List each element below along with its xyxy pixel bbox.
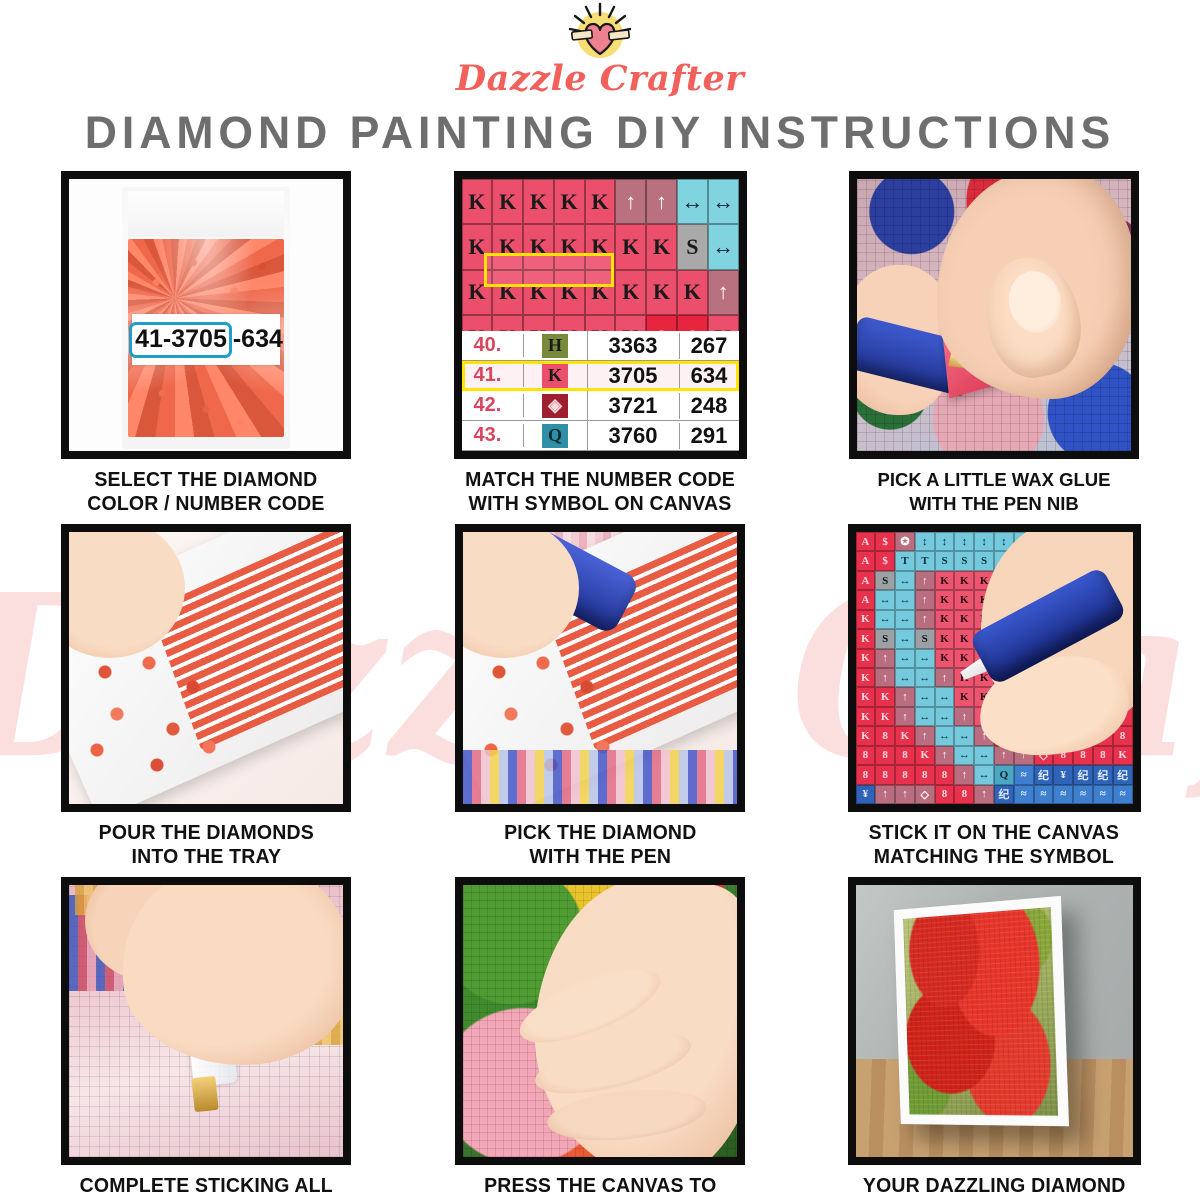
canvas-cell: ↔ — [915, 707, 935, 726]
canvas-cell: ↔ — [935, 726, 955, 745]
canvas-cell: ↑ — [935, 746, 955, 765]
press-canvas-photo — [463, 885, 737, 1157]
picture-frame — [893, 896, 1068, 1126]
chart-cell: K — [523, 179, 554, 224]
canvas-cell: ≈ — [1014, 765, 1034, 784]
canvas-cell: S — [974, 551, 994, 570]
color-legend-table: 40.H336326741.K370563442.◈372124843.Q376… — [462, 331, 739, 451]
canvas-cell: 8 — [875, 765, 895, 784]
step-1-image: 41-3705-634 — [61, 171, 351, 459]
canvas-cell: ↑ — [954, 765, 974, 784]
legend-row-number: 40. — [462, 334, 524, 357]
canvas-cell: Q — [994, 765, 1014, 784]
canvas-cell: S — [875, 629, 895, 648]
canvas-cell: ↕ — [974, 532, 994, 551]
canvas-cell: 8 — [856, 746, 876, 765]
canvas-cell: S — [875, 571, 895, 590]
canvas-cell: A — [856, 590, 876, 609]
step-6-caption: STICK IT ON THE CANVAS MATCHING THE SYMB… — [869, 821, 1120, 877]
canvas-cell: $ — [875, 551, 895, 570]
step-8-image — [455, 877, 745, 1165]
canvas-cell: ≈ — [1073, 785, 1093, 804]
canvas-cell: ¥ — [856, 785, 876, 804]
canvas-cell: ¥ — [1053, 765, 1073, 784]
canvas-cell: ↔ — [875, 610, 895, 629]
right-hand — [123, 885, 343, 1065]
canvas-cell: K — [875, 687, 895, 706]
canvas-cell: ↕ — [935, 532, 955, 551]
canvas-cell: ◇ — [915, 785, 935, 804]
canvas-cell: 纪 — [1073, 765, 1093, 784]
header: Dazzle Crafter DIAMOND PAINTING DIY INST… — [0, 0, 1200, 159]
legend-dmc-code: 3760 — [588, 423, 680, 449]
step-6-caption-line2: MATCHING THE SYMBOL — [869, 845, 1120, 869]
step-8-caption: PRESS THE CANVAS TO FIX ALL DIAMONDS — [484, 1174, 716, 1200]
step-4: POUR THE DIAMONDS INTO THE TRAY — [13, 524, 399, 877]
canvas-cell: ≈ — [1014, 785, 1034, 804]
diamond-bag-photo: 41-3705-634 — [69, 179, 343, 451]
canvas-cell: ↔ — [895, 590, 915, 609]
canvas-cell: K — [856, 629, 876, 648]
finished-art-photo — [856, 885, 1133, 1157]
complete-sticking-photo — [69, 885, 343, 1157]
canvas-cell: ↕ — [915, 532, 935, 551]
canvas-cell: ↕ — [954, 532, 974, 551]
step-1-caption: SELECT THE DIAMOND COLOR / NUMBER CODE — [87, 468, 324, 524]
canvas-cell: 纪 — [1093, 765, 1113, 784]
legend-symbol-cell: Q — [524, 421, 588, 450]
canvas-cell: ↔ — [915, 649, 935, 668]
canvas-cell: K — [1113, 746, 1133, 765]
canvas-cell: ↔ — [915, 668, 935, 687]
chart-cell: K — [615, 224, 646, 269]
canvas-cell: ↔ — [935, 687, 955, 706]
canvas-cell: ↑ — [895, 707, 915, 726]
legend-dmc-code: 3363 — [588, 333, 680, 359]
canvas-cell: S — [954, 551, 974, 570]
wax-glue-photo — [857, 179, 1131, 451]
canvas-cell: 8 — [856, 765, 876, 784]
canvas-cell: ↑ — [935, 668, 955, 687]
canvas-cell: ↑ — [875, 785, 895, 804]
canvas-cell: ↑ — [895, 785, 915, 804]
canvas-cell: ≈ — [1113, 785, 1133, 804]
canvas-cell: ↑ — [875, 668, 895, 687]
legend-row-number: 43. — [462, 424, 524, 447]
canvas-cell: K — [856, 668, 876, 687]
canvas-cell: A — [856, 532, 876, 551]
canvas-cell: ↔ — [954, 726, 974, 745]
step-8-caption-line1: PRESS THE CANVAS TO — [484, 1174, 716, 1198]
canvas-cell: K — [954, 590, 974, 609]
pour-tray-photo — [69, 532, 343, 804]
chart-cell: K — [615, 270, 646, 315]
chart-cell: K — [646, 224, 677, 269]
canvas-cell: S — [935, 551, 955, 570]
canvas-cell: K — [856, 726, 876, 745]
step-3: PICK A LITTLE WAX GLUE WITH THE PEN NIB — [801, 171, 1187, 524]
canvas-cell: 8 — [1093, 746, 1113, 765]
canvas-cell: K — [954, 571, 974, 590]
chart-cell: ↑ — [646, 179, 677, 224]
step-6: A$✪↕↕↕↕↕↕↕↑KKKA$TTSSSSS↔↔SKKAS↔↑KKKK↑↔↔K… — [801, 524, 1187, 877]
canvas-cell: ↑ — [915, 571, 935, 590]
chart-cell: K — [492, 179, 523, 224]
canvas-cell: T — [915, 551, 935, 570]
step-5-image — [455, 524, 745, 812]
chart-highlight-box — [484, 253, 614, 287]
page-title: DIAMOND PAINTING DIY INSTRUCTIONS — [6, 107, 1194, 159]
pick-diamond-photo — [463, 532, 737, 804]
step-4-caption: POUR THE DIAMONDS INTO THE TRAY — [98, 821, 313, 877]
legend-dmc-code: 3705 — [588, 363, 680, 389]
chart-cell: ↑ — [615, 179, 646, 224]
bag-label-code: 41-3705-634 — [129, 322, 283, 358]
step-4-image — [61, 524, 351, 812]
legend-symbol-cell: K — [524, 361, 588, 390]
brand-name: Dazzle Crafter — [0, 58, 1200, 99]
canvas-cell: 纪 — [994, 785, 1014, 804]
stick-on-canvas-photo: A$✪↕↕↕↕↕↕↕↑KKKA$TTSSSSS↔↔SKKAS↔↑KKKK↑↔↔K… — [856, 532, 1133, 804]
canvas-cell: K — [856, 687, 876, 706]
step-1: 41-3705-634 SELECT THE DIAMOND COLOR / N… — [13, 171, 399, 524]
canvas-cell: ↔ — [895, 649, 915, 668]
canvas-cell: ✪ — [895, 532, 915, 551]
canvas-cell: K — [954, 629, 974, 648]
canvas-cell: 8 — [954, 785, 974, 804]
canvas-cell: 纪 — [1113, 765, 1133, 784]
canvas-cell: K — [856, 649, 876, 668]
legend-row: 41.K3705634 — [462, 361, 739, 391]
canvas-cell: K — [935, 629, 955, 648]
step-3-caption-line1: PICK A LITTLE WAX GLUE — [878, 468, 1111, 492]
canvas-cell: 8 — [895, 746, 915, 765]
bag-label-suffix: -634 — [233, 325, 283, 354]
canvas-cell: 8 — [895, 765, 915, 784]
canvas-cell: K — [935, 590, 955, 609]
canvas-cell: T — [895, 551, 915, 570]
canvas-cell: K — [954, 610, 974, 629]
step-7-image — [61, 877, 351, 1165]
canvas-cell: ↔ — [895, 668, 915, 687]
steps-grid: 41-3705-634 SELECT THE DIAMOND COLOR / N… — [0, 171, 1200, 1200]
step-1-caption-line2: COLOR / NUMBER CODE — [87, 492, 324, 516]
chart-cell: K — [585, 179, 616, 224]
step-9-caption: YOUR DAZZLING DIAMOND ART IS FINISHED ! — [863, 1174, 1126, 1200]
step-5: PICK THE DIAMOND WITH THE PEN — [407, 524, 793, 877]
step-8: PRESS THE CANVAS TO FIX ALL DIAMONDS — [407, 877, 793, 1200]
canvas-cell: ↑ — [954, 707, 974, 726]
canvas-cell: ↑ — [875, 649, 895, 668]
chart-cell: K — [554, 179, 585, 224]
step-5-caption: PICK THE DIAMOND WITH THE PEN — [504, 821, 696, 877]
pen-nib — [191, 1076, 218, 1112]
step-5-caption-line1: PICK THE DIAMOND — [504, 821, 696, 845]
canvas-cell: ↔ — [974, 765, 994, 784]
step-2-caption: MATCH THE NUMBER CODE WITH SYMBOL ON CAN… — [465, 468, 735, 524]
canvas-cell: ↔ — [954, 746, 974, 765]
step-6-caption-line1: STICK IT ON THE CANVAS — [869, 821, 1120, 845]
legend-row: 40.H3363267 — [462, 331, 739, 361]
canvas-cell: K — [875, 707, 895, 726]
bag-label: 41-3705-634 — [132, 314, 280, 365]
chart-cell: K — [646, 270, 677, 315]
canvas-strip-bottom — [463, 750, 737, 804]
chart-cell: ↑ — [708, 270, 739, 315]
canvas-cell: ↔ — [935, 707, 955, 726]
canvas-cell: K — [895, 726, 915, 745]
legend-row-number: 42. — [462, 394, 524, 417]
step-7: COMPLETE STICKING ALL COLOR DIAMONDS — [13, 877, 399, 1200]
heart-with-pencil-sunburst-icon — [564, 2, 636, 62]
canvas-cell: ↔ — [895, 571, 915, 590]
step-5-caption-line2: WITH THE PEN — [504, 845, 696, 869]
canvas-cell: $ — [875, 532, 895, 551]
step-3-caption: PICK A LITTLE WAX GLUE WITH THE PEN NIB — [878, 468, 1111, 524]
canvas-cell: ↔ — [875, 590, 895, 609]
canvas-cell: 8 — [935, 785, 955, 804]
canvas-cell: K — [856, 610, 876, 629]
poppy-artwork — [903, 907, 1058, 1116]
step-2-caption-line1: MATCH THE NUMBER CODE — [465, 468, 735, 492]
canvas-cell: 8 — [935, 765, 955, 784]
canvas-cell: 8 — [875, 726, 895, 745]
canvas-cell: K — [915, 746, 935, 765]
canvas-cell: ↔ — [915, 687, 935, 706]
pattern-chart-photo: KKKKK↑↑↔↔KKKKKKKS↔KKKKKKKK↑KKKKKK88K↑KKK… — [462, 179, 739, 451]
canvas-cell: K — [935, 610, 955, 629]
canvas-cell: 8 — [915, 765, 935, 784]
loose-diamonds — [69, 642, 269, 792]
canvas-cell: ≈ — [1093, 785, 1113, 804]
legend-symbol-chip: K — [542, 364, 568, 388]
step-9-caption-line1: YOUR DAZZLING DIAMOND — [863, 1174, 1126, 1198]
canvas-cell: 纪 — [1034, 765, 1054, 784]
bag-label-highlighted-code: 41-3705 — [129, 322, 232, 358]
canvas-cell: K — [935, 571, 955, 590]
infographic-page: Dazzle Crafter Dazzle Crafter DIAMOND PA… — [0, 0, 1200, 1200]
legend-row-number: 41. — [462, 364, 524, 387]
canvas-cell: ↑ — [915, 726, 935, 745]
canvas-cell: K — [935, 649, 955, 668]
canvas-cell: ↔ — [895, 629, 915, 648]
canvas-cell: A — [856, 571, 876, 590]
canvas-cell: ≈ — [1034, 785, 1054, 804]
canvas-cell: ↑ — [895, 687, 915, 706]
step-6-image: A$✪↕↕↕↕↕↕↕↑KKKA$TTSSSSS↔↔SKKAS↔↑KKKK↑↔↔K… — [848, 524, 1141, 812]
legend-count: 634 — [680, 363, 739, 389]
scene-background — [856, 885, 1133, 1157]
step-4-caption-line2: INTO THE TRAY — [98, 845, 313, 869]
legend-count: 267 — [680, 333, 739, 359]
legend-row: 42.◈3721248 — [462, 391, 739, 421]
step-9: YOUR DAZZLING DIAMOND ART IS FINISHED ! — [801, 877, 1187, 1200]
chart-cell: ↔ — [708, 179, 739, 224]
step-7-caption: COMPLETE STICKING ALL COLOR DIAMONDS — [79, 1174, 332, 1200]
legend-symbol-chip: H — [542, 334, 568, 358]
legend-symbol-cell: H — [524, 331, 588, 360]
chart-cell: K — [462, 179, 493, 224]
canvas-cell: K — [856, 707, 876, 726]
diamond-bag-seal — [128, 191, 284, 237]
step-4-caption-line1: POUR THE DIAMONDS — [98, 821, 313, 845]
step-2-image: KKKKK↑↑↔↔KKKKKKKS↔KKKKKKKK↑KKKKKK88K↑KKK… — [454, 171, 747, 459]
chart-cell: ↔ — [708, 224, 739, 269]
step-3-image — [849, 171, 1139, 459]
canvas-cell: ≈ — [1053, 785, 1073, 804]
chart-cell: K — [677, 270, 708, 315]
canvas-cell: ↑ — [915, 610, 935, 629]
legend-count: 248 — [680, 393, 739, 419]
canvas-cell: 8 — [875, 746, 895, 765]
legend-row: 43.Q3760291 — [462, 421, 739, 451]
legend-dmc-code: 3721 — [588, 393, 680, 419]
canvas-cell: K — [954, 687, 974, 706]
canvas-cell: A — [856, 551, 876, 570]
canvas-cell: ↑ — [915, 590, 935, 609]
legend-symbol-chip: ◈ — [542, 394, 568, 418]
chart-cell: ↔ — [677, 179, 708, 224]
legend-count: 291 — [680, 423, 739, 449]
step-7-caption-line1: COMPLETE STICKING ALL — [79, 1174, 332, 1198]
step-2-caption-line2: WITH SYMBOL ON CANVAS — [465, 492, 735, 516]
legend-symbol-cell: ◈ — [524, 391, 588, 420]
step-9-image — [848, 877, 1141, 1165]
step-2: KKKKK↑↑↔↔KKKKKKKS↔KKKKKKKK↑KKKKKK88K↑KKK… — [407, 171, 793, 524]
canvas-cell: ↔ — [974, 746, 994, 765]
canvas-cell: S — [915, 629, 935, 648]
step-1-caption-line1: SELECT THE DIAMOND — [87, 468, 324, 492]
canvas-cell: ↔ — [895, 610, 915, 629]
canvas-cell: ↑ — [974, 785, 994, 804]
legend-symbol-chip: Q — [542, 424, 568, 448]
chart-cell: S — [677, 224, 708, 269]
step-3-caption-line2: WITH THE PEN NIB — [878, 492, 1111, 516]
